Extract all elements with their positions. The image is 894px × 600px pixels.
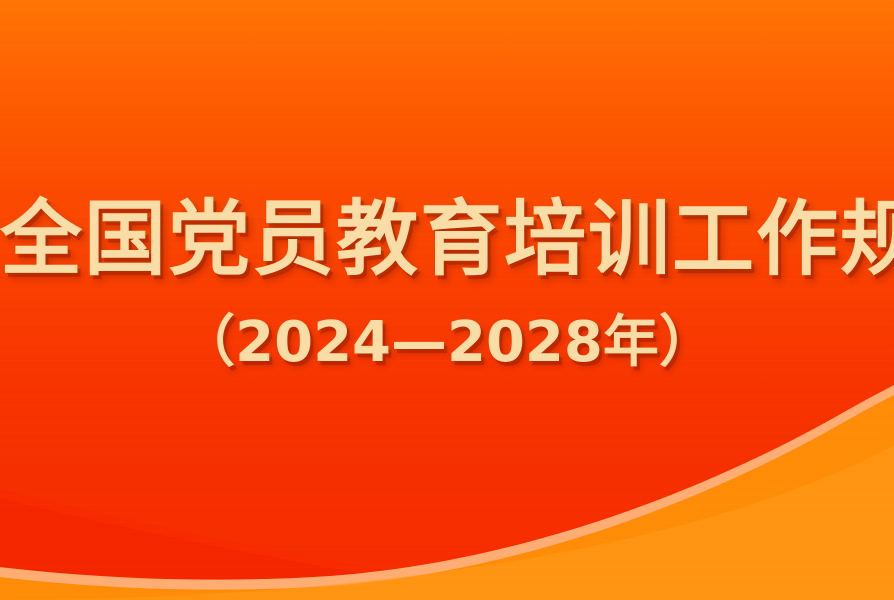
orange-bottom-wave (0, 390, 894, 600)
peach-accent-band (0, 380, 894, 600)
orange-inner-wave (0, 440, 894, 600)
page-title: 全国党员教育培训工作规划 (0, 192, 894, 288)
scanline-overlay (0, 0, 894, 600)
dark-red-diagonal-streak-edge (0, 486, 520, 600)
dark-red-diagonal-streak (0, 486, 560, 600)
page-subtitle: （2024—2028年） (0, 310, 894, 376)
background-decoration (0, 0, 894, 600)
poster-canvas: 全国党员教育培训工作规划 （2024—2028年） (0, 0, 894, 600)
